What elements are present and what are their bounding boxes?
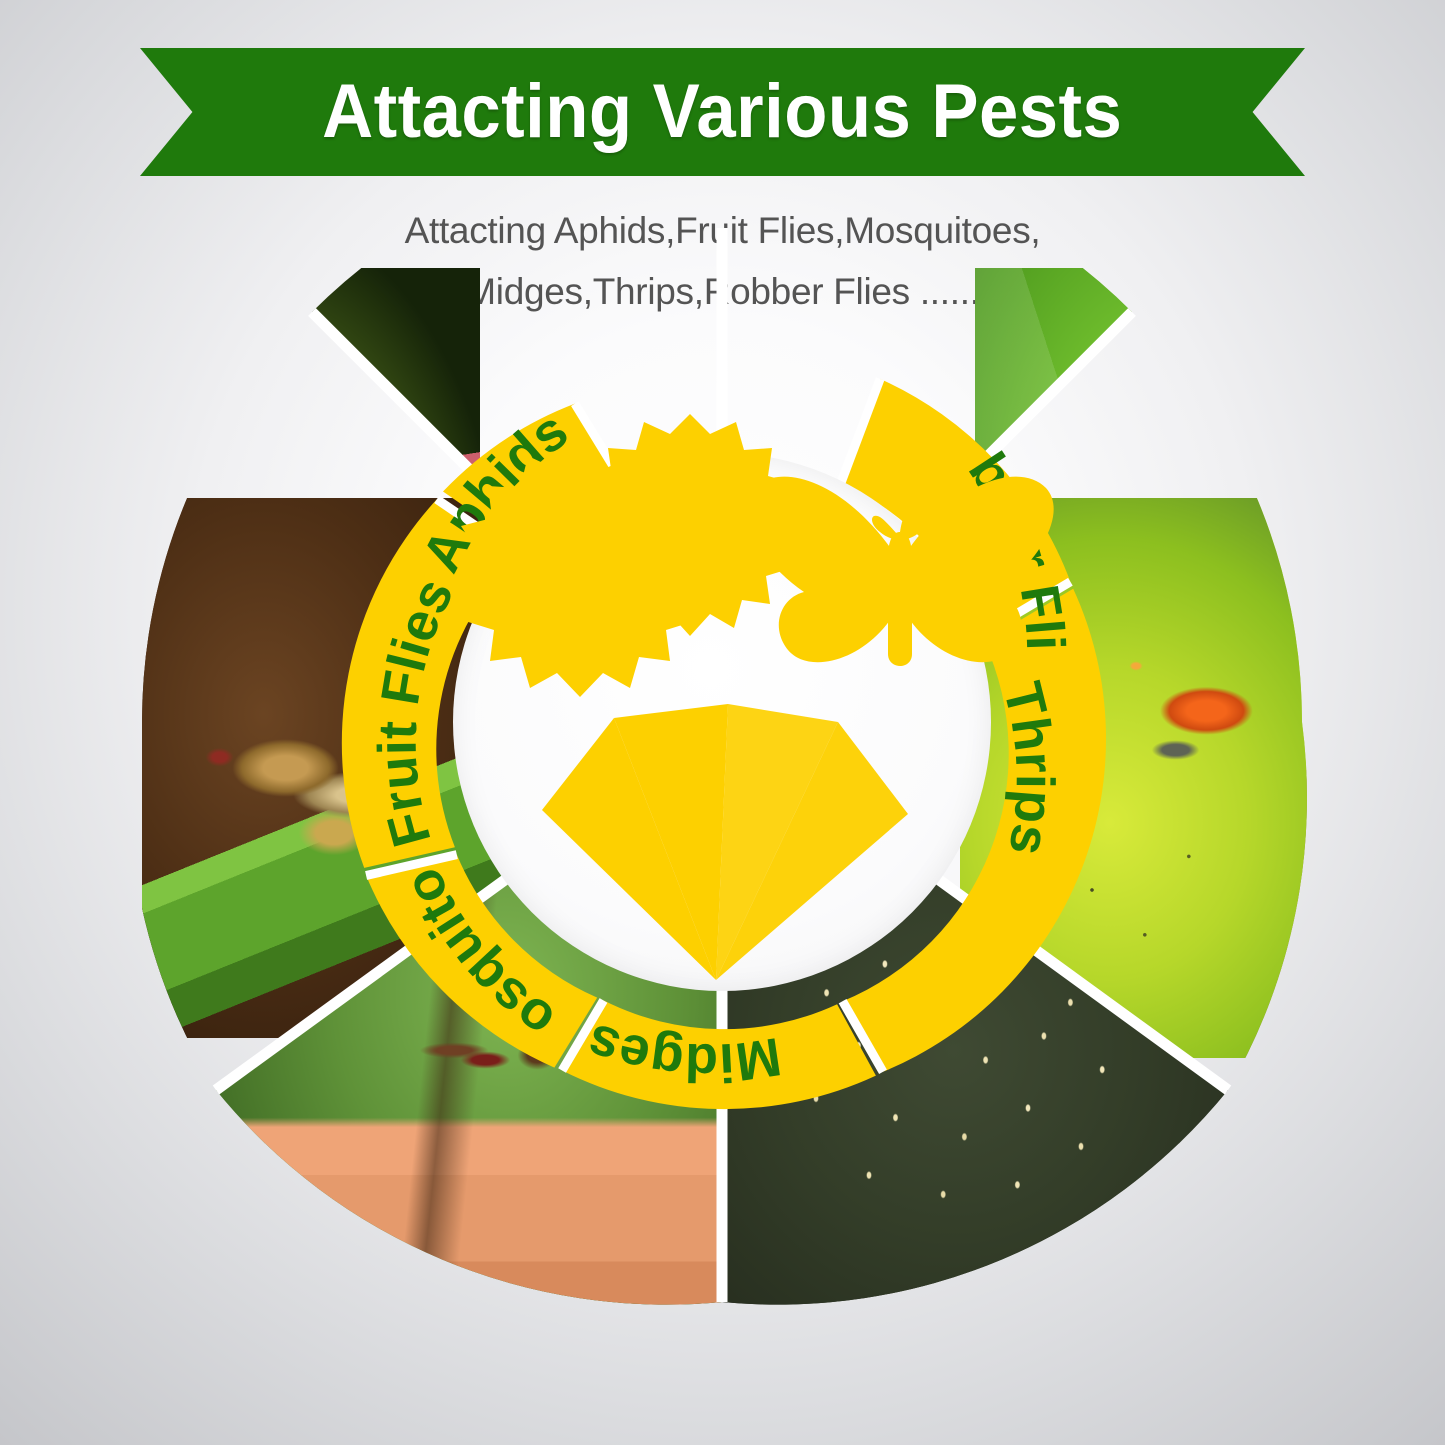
title-banner: Attacting Various Pests xyxy=(140,48,1305,176)
sticky-trap-illustration xyxy=(0,228,1445,1443)
page-title: Attacting Various Pests xyxy=(322,74,1122,150)
infographic-root: Attacting Various Pests Attacting Aphids… xyxy=(0,0,1445,1445)
pest-wheel: Aphids Fruit Flies Mosquitoes Midges xyxy=(0,228,1445,1443)
butterfly-trap xyxy=(746,477,1053,666)
banner-ribbon: Attacting Various Pests xyxy=(140,48,1305,176)
delta-trap xyxy=(542,704,908,980)
